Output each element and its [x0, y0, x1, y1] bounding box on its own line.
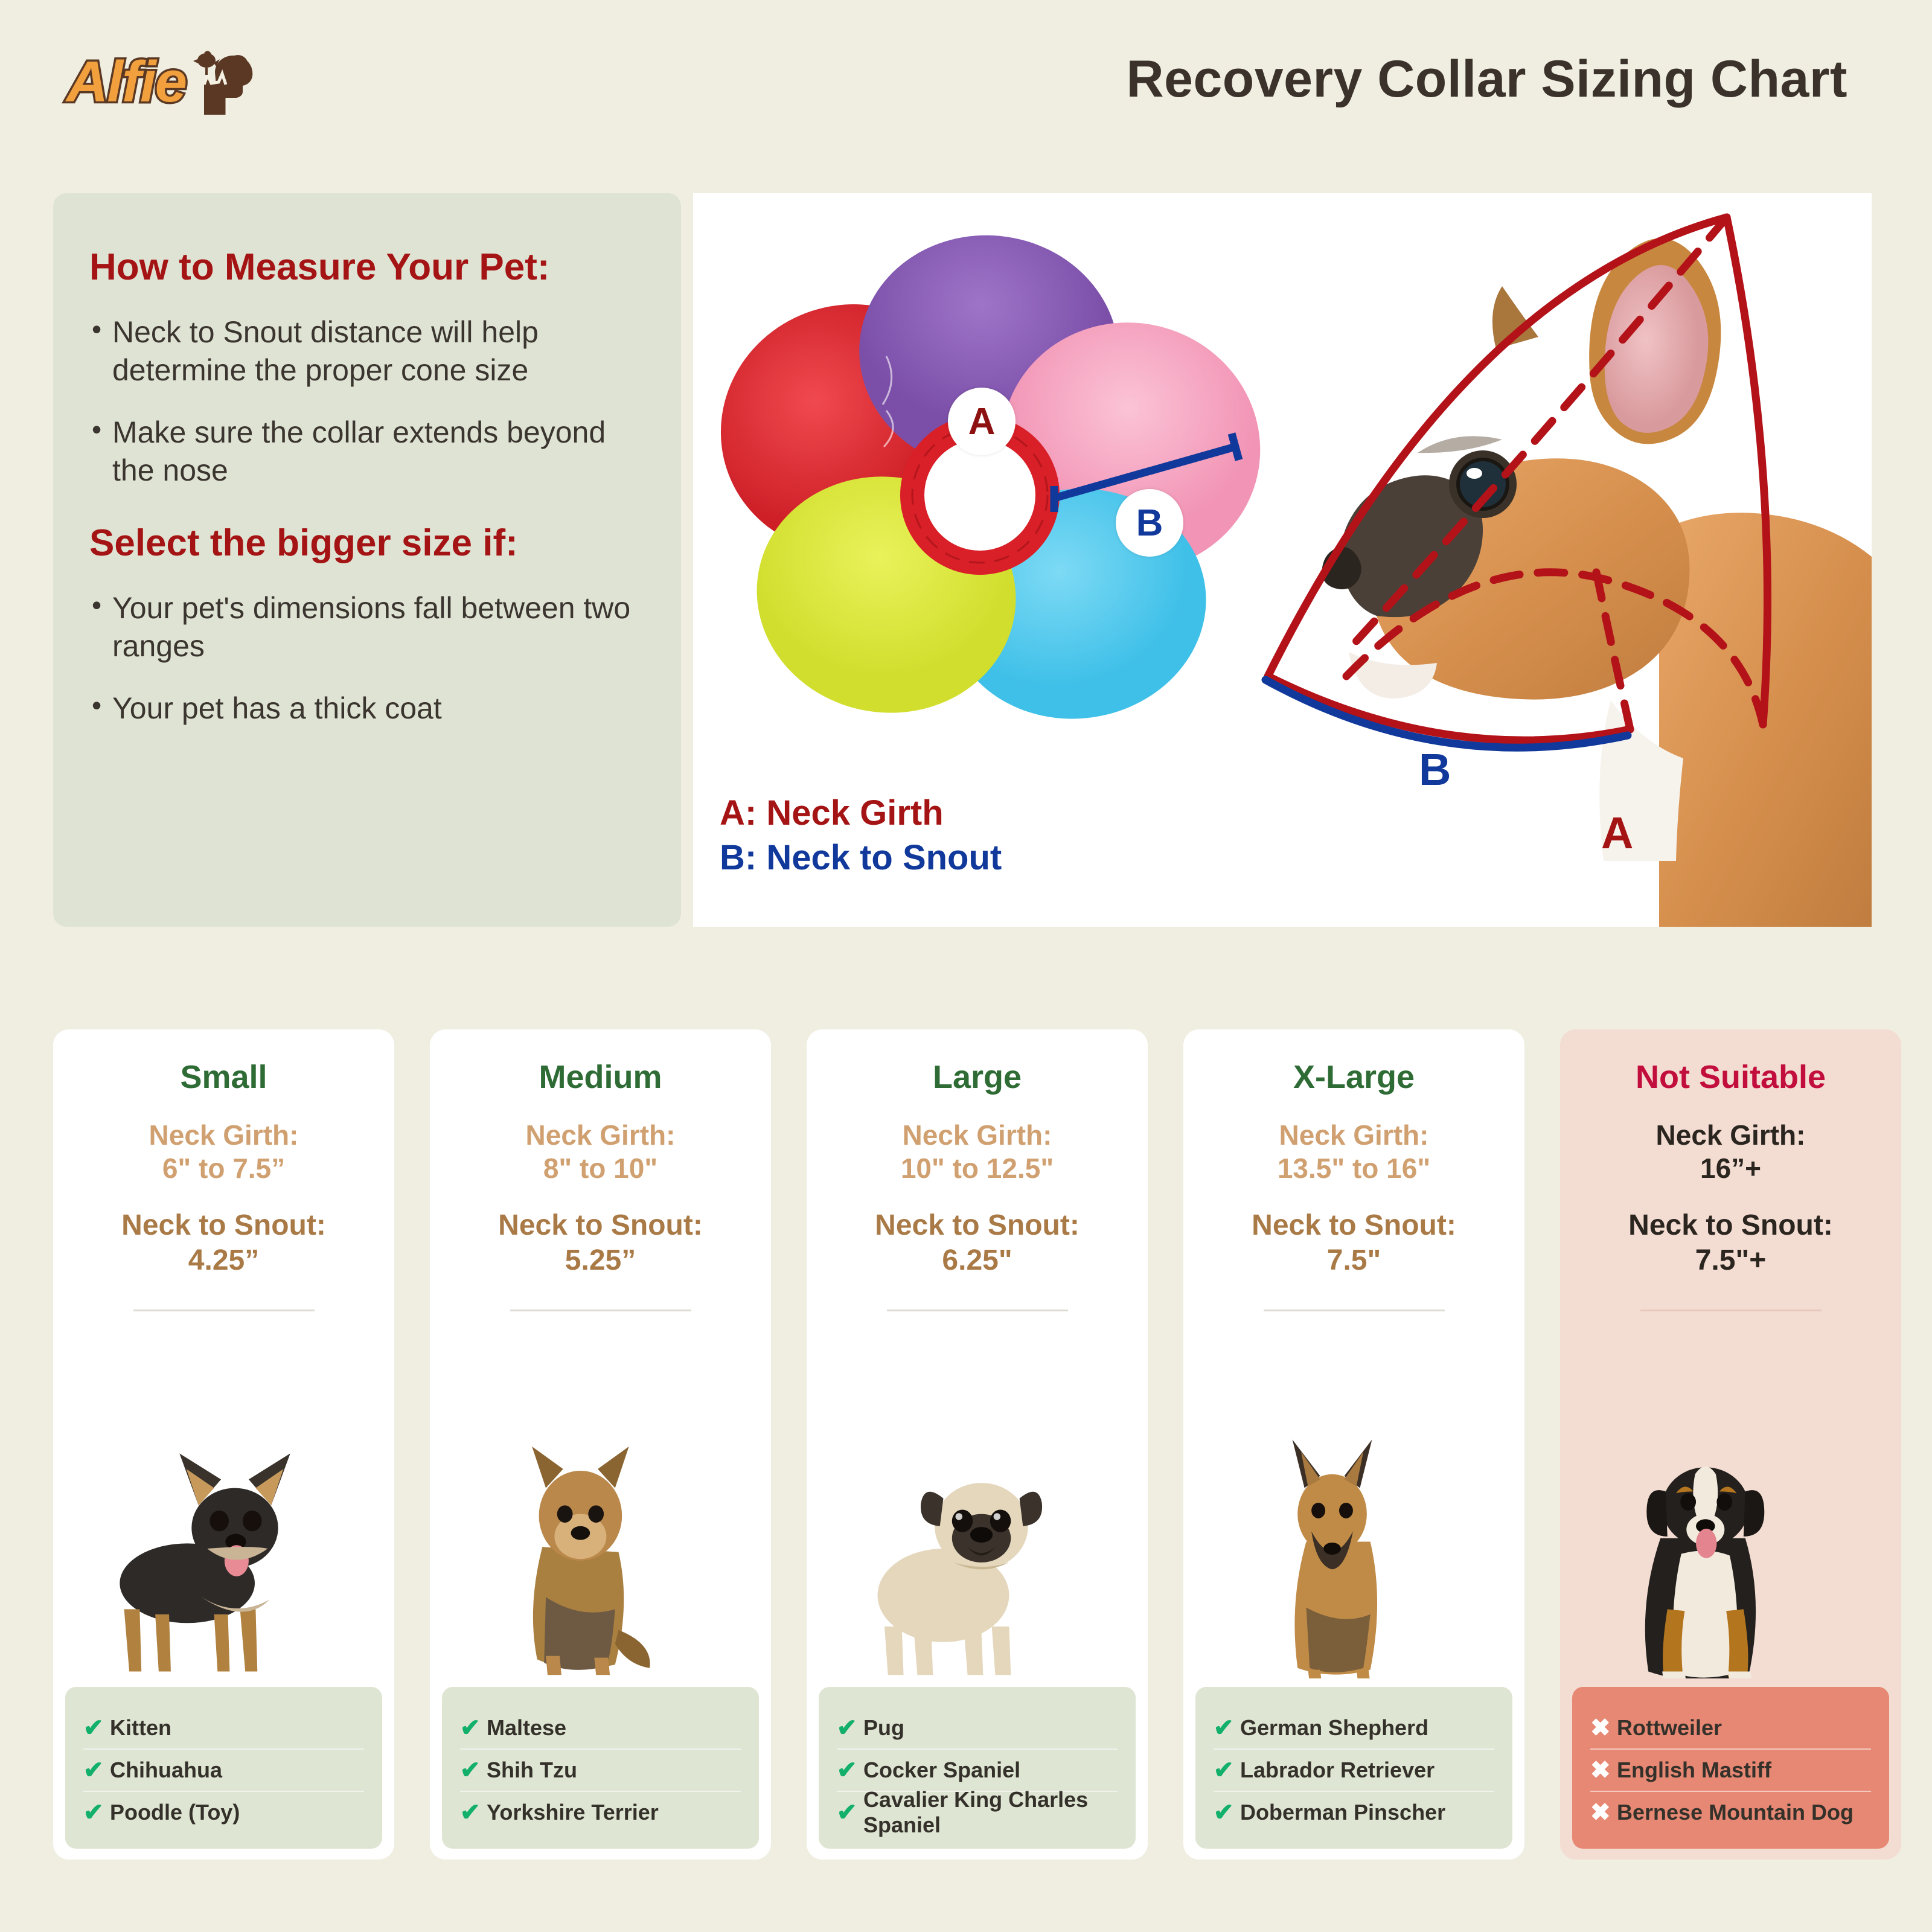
- breed-name: Poodle (Toy): [110, 1800, 240, 1825]
- alfie-logo: Alfie: [66, 47, 248, 120]
- check-icon: ✔: [83, 1714, 110, 1742]
- neck-girth-value: 8" to 10": [430, 1152, 771, 1185]
- neck-girth-value: 13.5" to 16": [1183, 1152, 1524, 1185]
- neck-girth-spec: Neck Girth: 8" to 10": [430, 1119, 771, 1185]
- check-icon: ✔: [83, 1799, 110, 1826]
- breed-row: ✔ Chihuahua: [83, 1750, 364, 1792]
- neck-to-snout-value: 6.25": [807, 1243, 1148, 1278]
- neck-to-snout-value: 7.5": [1183, 1243, 1524, 1278]
- breed-row: ✖ Bernese Mountain Dog: [1590, 1792, 1871, 1833]
- breed-name: Doberman Pinscher: [1240, 1800, 1445, 1825]
- measure-bullet: Neck to Snout distance will help determi…: [89, 313, 645, 389]
- breed-name: Cavalier King Charles Spaniel: [863, 1787, 1118, 1838]
- neck-girth-label: Neck Girth:: [807, 1119, 1148, 1152]
- breed-row: ✔ Shih Tzu: [460, 1750, 741, 1792]
- size-card-not-suitable[interactable]: Not Suitable Neck Girth: 16”+ Neck to Sn…: [1560, 1029, 1901, 1860]
- bigger-size-bullet: Your pet's dimensions fall between two r…: [89, 589, 645, 665]
- card-divider: [1264, 1310, 1445, 1311]
- neck-girth-value: 16”+: [1560, 1152, 1901, 1185]
- measure-bullet-list: Neck to Snout distance will help determi…: [89, 313, 645, 490]
- size-card-medium[interactable]: Medium Neck Girth: 8" to 10" Neck to Sno…: [430, 1029, 771, 1860]
- check-icon: ✔: [460, 1799, 487, 1826]
- check-icon: ✔: [1214, 1756, 1240, 1784]
- breed-row: ✔ Cocker Spaniel: [837, 1750, 1118, 1792]
- breed-list-large: ✔ Pug ✔ Cocker Spaniel ✔ Cavalier King C…: [819, 1687, 1136, 1849]
- measure-heading: How to Measure Your Pet:: [89, 248, 645, 287]
- neck-girth-label: Neck Girth:: [53, 1119, 394, 1152]
- bigger-size-bullet: Your pet has a thick coat: [89, 689, 645, 728]
- bigger-size-bullet-list: Your pet's dimensions fall between two r…: [89, 589, 645, 728]
- neck-to-snout-value: 7.5"+: [1560, 1243, 1901, 1278]
- neck-girth-label: Neck Girth:: [1560, 1119, 1901, 1152]
- cross-icon: ✖: [1590, 1714, 1617, 1742]
- neck-to-snout-label: Neck to Snout:: [1560, 1208, 1901, 1243]
- collar-marker-b: B: [1116, 489, 1183, 557]
- neck-to-snout-measure-line: [705, 229, 1261, 755]
- dog-photo-yorkshire-terrier: [430, 1419, 689, 1678]
- breed-row: ✔ Maltese: [460, 1707, 741, 1750]
- breed-name: German Shepherd: [1240, 1715, 1428, 1741]
- neck-to-snout-value: 5.25”: [430, 1243, 771, 1278]
- neck-to-snout-value: 4.25”: [53, 1243, 394, 1278]
- how-to-measure-panel: How to Measure Your Pet: Neck to Snout d…: [53, 193, 681, 927]
- breed-row: ✔ German Shepherd: [1214, 1707, 1494, 1750]
- legend-neck-to-snout: B: Neck to Snout: [720, 836, 1002, 880]
- neck-to-snout-spec: Neck to Snout: 5.25”: [430, 1208, 771, 1278]
- breed-row: ✖ Rottweiler: [1590, 1707, 1871, 1750]
- breed-list-small: ✔ Kitten ✔ Chihuahua ✔ Poodle (Toy): [65, 1687, 382, 1849]
- check-icon: ✔: [460, 1756, 487, 1784]
- neck-to-snout-spec: Neck to Snout: 7.5": [1183, 1208, 1524, 1278]
- card-divider: [1640, 1310, 1822, 1311]
- breed-name: English Mastiff: [1617, 1758, 1771, 1783]
- page-header: Alfie Recovery Collar Sizing Chart: [0, 0, 1932, 181]
- check-icon: ✔: [1214, 1799, 1240, 1826]
- breed-name: Chihuahua: [110, 1758, 222, 1783]
- collar-marker-a: A: [948, 388, 1016, 455]
- card-title: Large: [807, 1058, 1148, 1096]
- neck-girth-value: 10" to 12.5": [807, 1152, 1148, 1185]
- breed-name: Cocker Spaniel: [863, 1758, 1020, 1783]
- recovery-collar-photo: A B: [705, 229, 1261, 755]
- breed-name: Pug: [863, 1715, 904, 1741]
- breed-row: ✔ Kitten: [83, 1707, 364, 1750]
- card-divider: [887, 1310, 1068, 1311]
- size-card-small[interactable]: Small Neck Girth: 6" to 7.5” Neck to Sno…: [53, 1029, 394, 1860]
- neck-to-snout-spec: Neck to Snout: 4.25”: [53, 1208, 394, 1278]
- bigger-size-heading: Select the bigger size if:: [89, 523, 645, 563]
- breed-name: Kitten: [110, 1715, 171, 1741]
- check-icon: ✔: [837, 1714, 863, 1742]
- breed-name: Shih Tzu: [487, 1758, 577, 1783]
- neck-girth-value: 6" to 7.5”: [53, 1152, 394, 1185]
- card-divider: [133, 1310, 315, 1311]
- size-cards-row: Small Neck Girth: 6" to 7.5” Neck to Sno…: [0, 1029, 1932, 1875]
- card-title: Medium: [430, 1058, 771, 1096]
- check-icon: ✔: [1214, 1714, 1240, 1742]
- measurement-legend: A: Neck Girth B: Neck to Snout: [720, 791, 1002, 880]
- neck-to-snout-label: Neck to Snout:: [807, 1208, 1148, 1243]
- neck-girth-label: Neck Girth:: [1183, 1119, 1524, 1152]
- dog-photo-pug: [807, 1419, 1066, 1678]
- breed-row: ✔ Cavalier King Charles Spaniel: [837, 1792, 1118, 1833]
- page-title: Recovery Collar Sizing Chart: [1127, 50, 1847, 109]
- breed-name: Labrador Retriever: [1240, 1758, 1435, 1783]
- dog-photo-bernese-mountain-dog: [1560, 1419, 1820, 1678]
- card-title: Not Suitable: [1560, 1058, 1901, 1096]
- breed-row: ✔ Yorkshire Terrier: [460, 1792, 741, 1833]
- check-icon: ✔: [837, 1756, 863, 1784]
- breed-row: ✔ Poodle (Toy): [83, 1792, 364, 1833]
- legend-neck-girth: A: Neck Girth: [720, 791, 1002, 836]
- check-icon: ✔: [460, 1714, 487, 1742]
- neck-girth-spec: Neck Girth: 16”+: [1560, 1119, 1901, 1185]
- breed-list-xlarge: ✔ German Shepherd ✔ Labrador Retriever ✔…: [1195, 1687, 1512, 1849]
- card-title: X-Large: [1183, 1058, 1524, 1096]
- neck-to-snout-spec: Neck to Snout: 6.25": [807, 1208, 1148, 1278]
- neck-girth-spec: Neck Girth: 6" to 7.5”: [53, 1119, 394, 1185]
- dog-marker-b: B: [1419, 744, 1451, 795]
- size-card-large[interactable]: Large Neck Girth: 10" to 12.5" Neck to S…: [807, 1029, 1148, 1860]
- dog-photo-german-shepherd: [1183, 1419, 1443, 1678]
- cross-icon: ✖: [1590, 1799, 1617, 1826]
- breed-list-not-suitable: ✖ Rottweiler ✖ English Mastiff ✖ Bernese…: [1572, 1687, 1889, 1849]
- card-divider: [510, 1310, 691, 1311]
- neck-to-snout-label: Neck to Snout:: [53, 1208, 394, 1243]
- dog-with-cone-photo: B A: [1236, 193, 1872, 927]
- dog-cat-bird-silhouette-icon: [180, 47, 258, 120]
- breed-name: Rottweiler: [1617, 1715, 1722, 1741]
- size-card-xlarge[interactable]: X-Large Neck Girth: 13.5" to 16" Neck to…: [1183, 1029, 1524, 1860]
- neck-girth-spec: Neck Girth: 10" to 12.5": [807, 1119, 1148, 1185]
- breed-row: ✖ English Mastiff: [1590, 1750, 1871, 1792]
- dog-photo-chihuahua: [53, 1419, 313, 1678]
- check-icon: ✔: [837, 1799, 863, 1826]
- breed-list-medium: ✔ Maltese ✔ Shih Tzu ✔ Yorkshire Terrier: [442, 1687, 759, 1849]
- breed-row: ✔ Labrador Retriever: [1214, 1750, 1494, 1792]
- neck-girth-spec: Neck Girth: 13.5" to 16": [1183, 1119, 1524, 1185]
- card-title: Small: [53, 1058, 394, 1096]
- neck-to-snout-label: Neck to Snout:: [1183, 1208, 1524, 1243]
- neck-to-snout-spec: Neck to Snout: 7.5"+: [1560, 1208, 1901, 1278]
- neck-girth-label: Neck Girth:: [430, 1119, 771, 1152]
- breed-name: Maltese: [487, 1715, 566, 1741]
- french-bulldog-cone-diagram: B A: [1236, 193, 1872, 927]
- breed-row: ✔ Doberman Pinscher: [1214, 1792, 1494, 1833]
- breed-name: Yorkshire Terrier: [487, 1800, 659, 1825]
- dog-marker-a: A: [1601, 808, 1633, 858]
- neck-to-snout-label: Neck to Snout:: [430, 1208, 771, 1243]
- logo-wordmark: Alfie: [66, 53, 186, 111]
- cross-icon: ✖: [1590, 1756, 1617, 1784]
- measurement-illustration-panel: A B A: Neck Girth B: Neck to Snout: [693, 193, 1872, 927]
- breed-row: ✔ Pug: [837, 1707, 1118, 1750]
- measure-bullet: Make sure the collar extends beyond the …: [89, 414, 645, 490]
- check-icon: ✔: [83, 1756, 110, 1784]
- breed-name: Bernese Mountain Dog: [1617, 1800, 1854, 1825]
